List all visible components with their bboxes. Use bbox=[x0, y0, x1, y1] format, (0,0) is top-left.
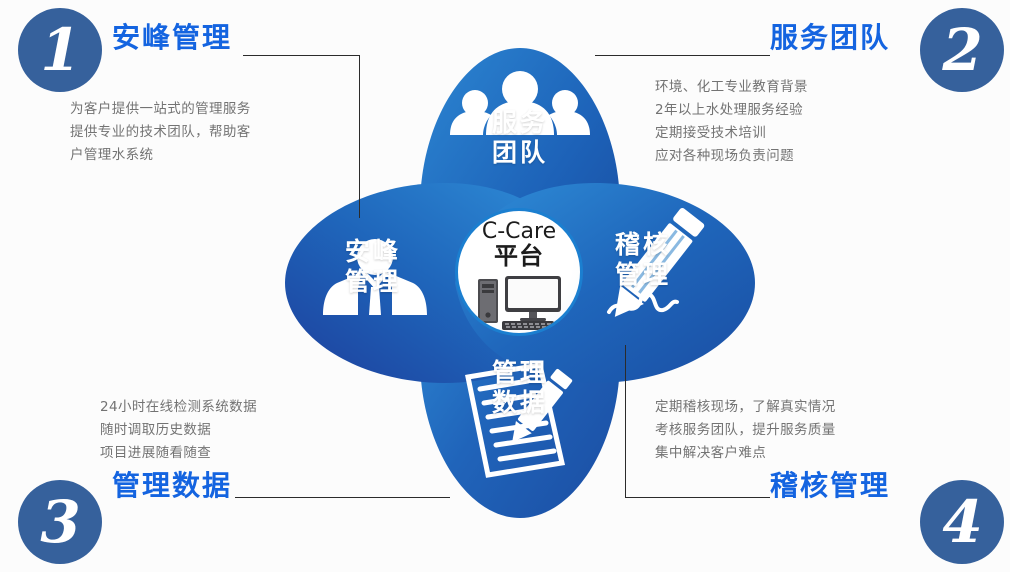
hub-title-en: C-Care bbox=[482, 219, 556, 244]
body-line: 提供专业的技术团队，帮助客 bbox=[70, 121, 251, 144]
section-title-2: 服务团队 bbox=[770, 24, 890, 52]
number-badge-1: 1 bbox=[18, 8, 102, 92]
section-title-1: 安峰管理 bbox=[112, 24, 232, 52]
section-title-4: 稽核管理 bbox=[770, 472, 890, 500]
section-body-4: 定期稽核现场，了解真实情况考核服务团队，提升服务质量集中解决客户难点 bbox=[655, 396, 836, 465]
body-line: 随时调取历史数据 bbox=[100, 419, 257, 442]
number-badge-2: 2 bbox=[920, 8, 1004, 92]
section-body-1: 为客户提供一站式的管理服务提供专业的技术团队，帮助客户管理水系统 bbox=[70, 98, 251, 167]
body-line: 环境、化工专业教育背景 bbox=[655, 76, 808, 99]
body-line: 定期接受技术培训 bbox=[655, 122, 808, 145]
connector-line-4-horizontal bbox=[625, 497, 770, 498]
body-line: 项目进展随看随查 bbox=[100, 442, 257, 465]
center-hub[interactable]: C-Care 平台 bbox=[455, 208, 583, 336]
desktop-computer-icon bbox=[472, 273, 572, 333]
section-body-3: 24小时在线检测系统数据随时调取历史数据项目进展随看随查 bbox=[100, 396, 257, 465]
body-line: 户管理水系统 bbox=[70, 144, 251, 167]
hub-title: C-Care 平台 bbox=[458, 220, 580, 268]
number-badge-3: 3 bbox=[18, 480, 102, 564]
petal-label-top: 服务 团队 bbox=[465, 108, 575, 168]
body-line: 2年以上水处理服务经验 bbox=[655, 99, 808, 122]
infographic-canvas: 服务 团队 稽核 管理 管理 数据 安峰 管理 C-Care 平台 bbox=[0, 0, 1010, 572]
section-body-2: 环境、化工专业教育背景2年以上水处理服务经验定期接受技术培训应对各种现场负责问题 bbox=[655, 76, 808, 168]
connector-line-3-horizontal bbox=[235, 497, 450, 498]
hub-title-cn: 平台 bbox=[458, 244, 580, 268]
body-line: 应对各种现场负责问题 bbox=[655, 145, 808, 168]
body-line: 定期稽核现场，了解真实情况 bbox=[655, 396, 836, 419]
number-badge-4: 4 bbox=[920, 480, 1004, 564]
body-line: 为客户提供一站式的管理服务 bbox=[70, 98, 251, 121]
section-title-3: 管理数据 bbox=[112, 472, 232, 500]
connector-line-2-horizontal bbox=[595, 55, 770, 56]
petal-label-right: 稽核 管理 bbox=[615, 230, 705, 290]
body-line: 考核服务团队，提升服务质量 bbox=[655, 419, 836, 442]
body-line: 集中解决客户难点 bbox=[655, 442, 836, 465]
connector-line-1-vertical bbox=[359, 55, 360, 218]
petal-label-bottom: 管理 数据 bbox=[465, 358, 575, 418]
petal-label-left: 安峰 管理 bbox=[345, 237, 435, 297]
connector-line-4-vertical bbox=[625, 345, 626, 497]
connector-line-1-horizontal bbox=[243, 55, 360, 56]
body-line: 24小时在线检测系统数据 bbox=[100, 396, 257, 419]
